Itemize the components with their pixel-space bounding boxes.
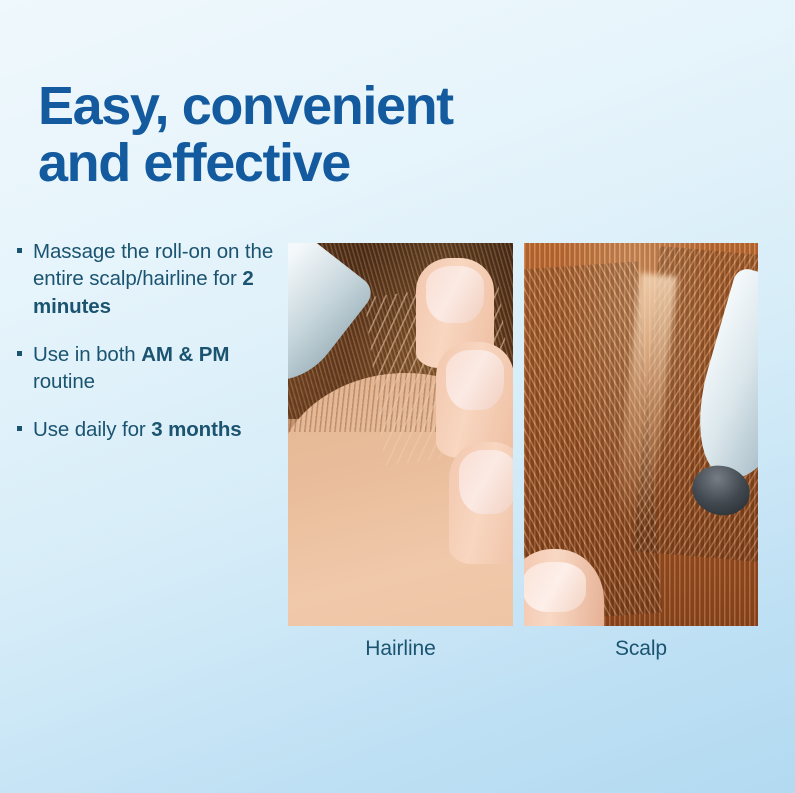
- caption-scalp: Scalp: [524, 637, 758, 661]
- list-item: Massage the roll-on on the entire scalp/…: [16, 238, 284, 320]
- benefits-list: Massage the roll-on on the entire scalp/…: [16, 238, 284, 444]
- benefit-text-prefix: Use in both: [33, 343, 141, 366]
- fingernail: [446, 350, 504, 410]
- scalp-application-photo: [524, 243, 758, 626]
- fingernail: [459, 450, 513, 514]
- benefit-text-prefix: Use daily for: [33, 418, 151, 441]
- hand-fingers: [396, 258, 513, 580]
- infographic-panel: Easy, convenient and effective Massage t…: [0, 0, 795, 793]
- benefit-text-emphasis: 3 months: [151, 418, 241, 441]
- benefit-text-suffix: routine: [33, 370, 95, 393]
- finger: [436, 342, 513, 458]
- page-title-line-2: and effective: [38, 133, 350, 193]
- fingernail: [524, 562, 586, 612]
- page-title-line-1: Easy, convenient: [38, 76, 453, 136]
- hairline-application-photo: vise: [288, 243, 513, 626]
- benefit-text-emphasis: AM & PM: [141, 343, 229, 366]
- bullet-square-icon: [17, 351, 22, 356]
- bullet-square-icon: [17, 248, 22, 253]
- caption-hairline: Hairline: [288, 637, 513, 661]
- benefit-text-prefix: Massage the roll-on on the entire scalp/…: [33, 240, 273, 290]
- photo-comparison-row: vise: [288, 243, 758, 626]
- finger: [449, 442, 513, 564]
- fingernail: [426, 266, 484, 323]
- bullet-square-icon: [17, 426, 22, 431]
- page-title: Easy, convenient and effective: [38, 78, 558, 192]
- list-item: Use daily for 3 months: [16, 416, 284, 443]
- list-item: Use in both AM & PM routine: [16, 341, 284, 396]
